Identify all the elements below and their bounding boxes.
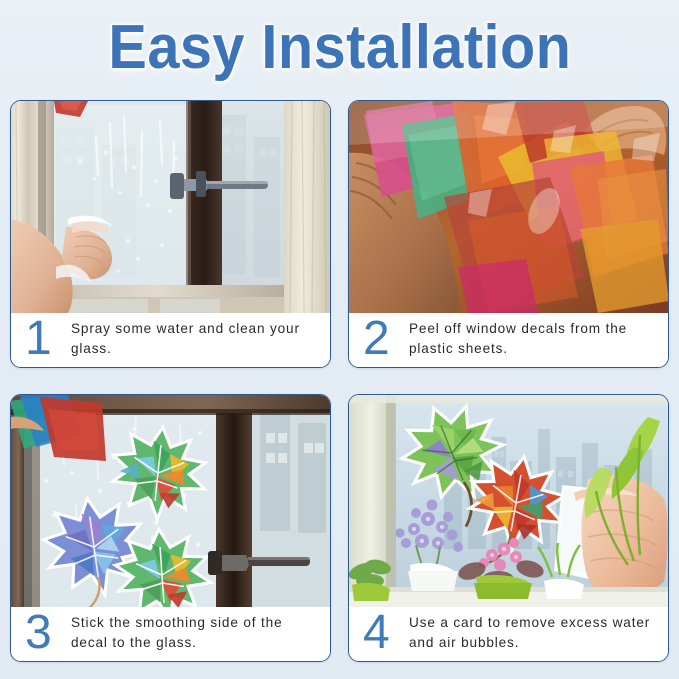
- page-title: Easy Installation: [0, 0, 679, 96]
- step-card-3: 3 Stick the smoothing side of the decal …: [10, 394, 331, 662]
- page-title-text: Easy Installation: [108, 17, 571, 79]
- step-2-photo: [349, 101, 668, 313]
- step-1-caption: 1 Spray some water and clean your glass.: [11, 313, 330, 367]
- step-3-caption: 3 Stick the smoothing side of the decal …: [11, 607, 330, 661]
- step-4-photo: [349, 395, 668, 607]
- step-4-number: 4: [359, 612, 407, 653]
- step-1-text: Spray some water and clean your glass.: [69, 319, 324, 358]
- step-3-text: Stick the smoothing side of the decal to…: [69, 613, 324, 652]
- step-4-text: Use a card to remove excess water and ai…: [407, 613, 662, 652]
- step-2-text: Peel off window decals from the plastic …: [407, 319, 662, 358]
- step-card-2: 2 Peel off window decals from the plasti…: [348, 100, 669, 368]
- step-2-caption: 2 Peel off window decals from the plasti…: [349, 313, 668, 367]
- step-4-caption: 4 Use a card to remove excess water and …: [349, 607, 668, 661]
- step-card-4: 4 Use a card to remove excess water and …: [348, 394, 669, 662]
- window-cleaning-illustration: [11, 101, 330, 313]
- step-card-1: 1 Spray some water and clean your glass.: [10, 100, 331, 368]
- peeling-plastic-sheets-illustration: [349, 101, 668, 313]
- step-3-number: 3: [21, 612, 69, 653]
- step-1-photo: [11, 101, 330, 313]
- steps-grid: 1 Spray some water and clean your glass.: [10, 100, 669, 662]
- easy-installation-infographic: Easy Installation: [0, 0, 679, 679]
- step-3-photo: [11, 395, 330, 607]
- step-2-number: 2: [359, 318, 407, 359]
- leaf-decals-on-wet-window-illustration: [11, 395, 330, 607]
- card-smoothing-decal-illustration: [349, 395, 668, 607]
- step-1-number: 1: [21, 318, 69, 359]
